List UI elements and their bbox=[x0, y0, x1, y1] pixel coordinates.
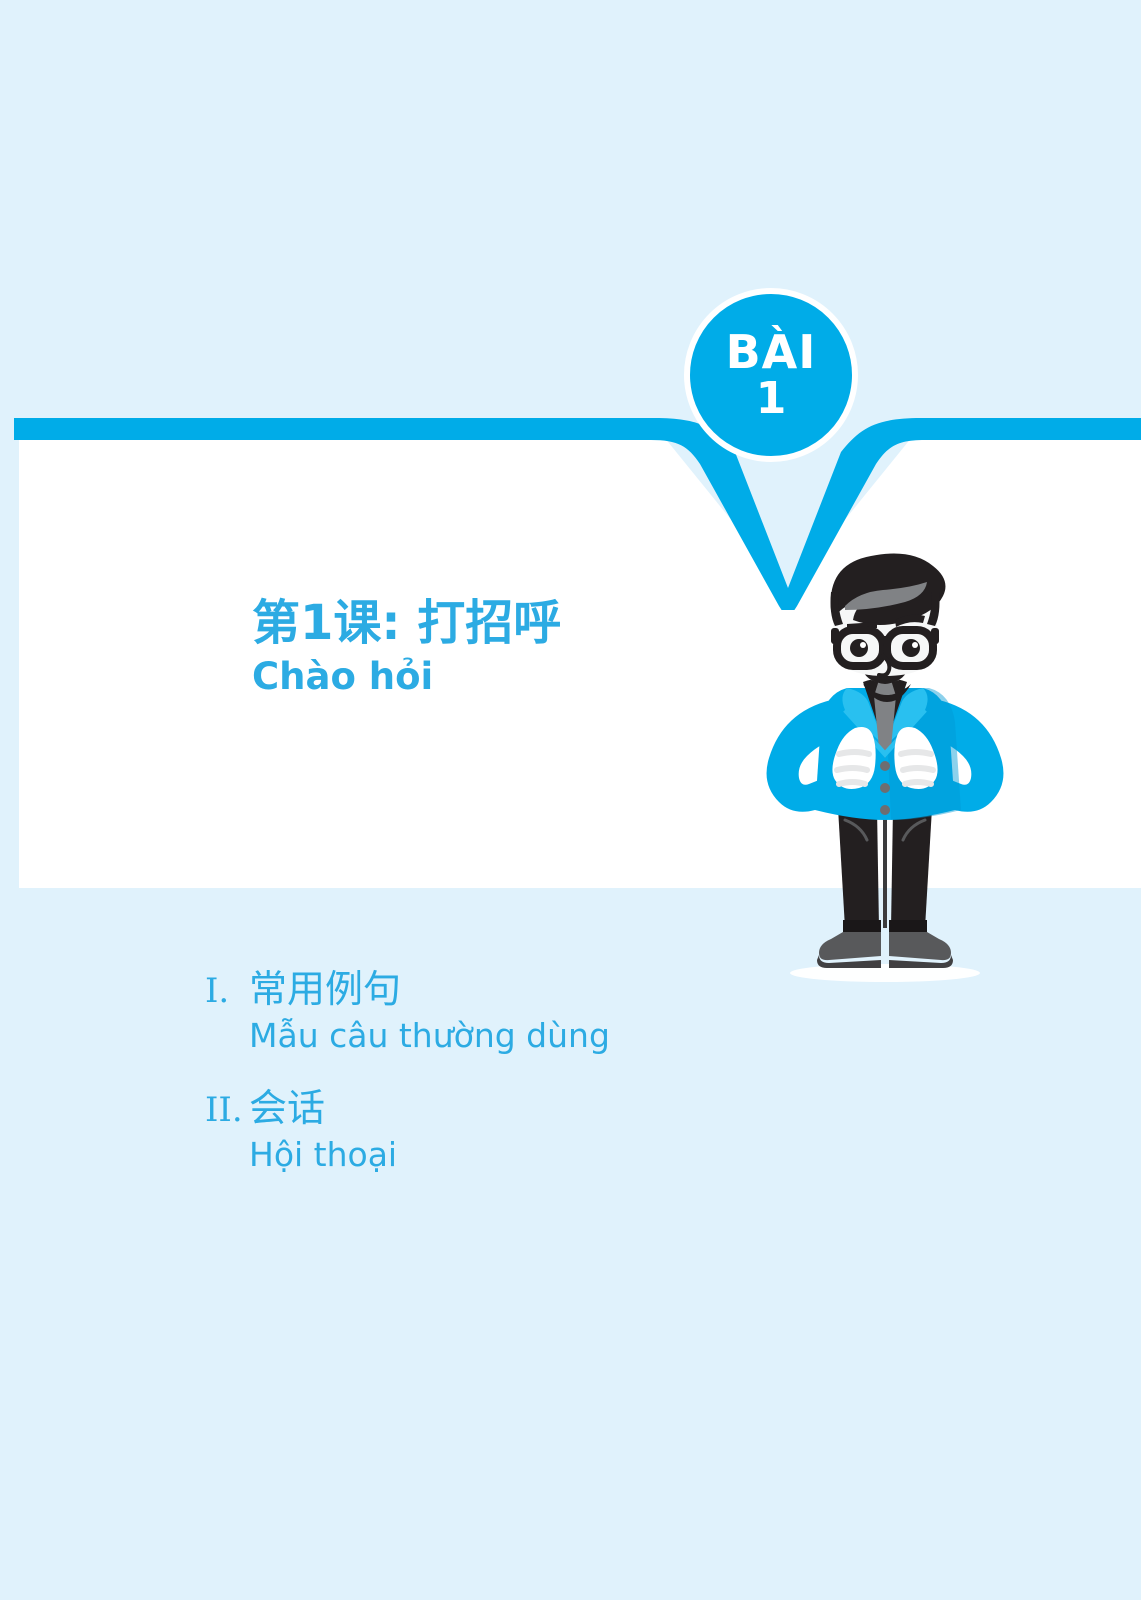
lesson-number-badge: BÀI 1 bbox=[684, 288, 858, 462]
jacket-button bbox=[880, 761, 890, 771]
right-cuff bbox=[889, 920, 927, 932]
jacket-button bbox=[880, 783, 890, 793]
right-eye bbox=[902, 639, 920, 657]
right-eye-highlight bbox=[912, 642, 918, 648]
lesson-cover-page: BÀI 1 第1课: 打招呼 Chào hỏi I. 常用例句 Mẫu câu … bbox=[0, 0, 1141, 1600]
toc-item-heading: II. 会话 bbox=[205, 1077, 610, 1132]
lesson-title-vietnamese: Chào hỏi bbox=[252, 655, 561, 699]
left-cuff bbox=[843, 920, 881, 932]
cartoon-man-illustration bbox=[735, 548, 1035, 988]
right-shoe bbox=[889, 932, 951, 960]
left-shoe bbox=[819, 932, 881, 960]
lesson-title-chinese: 第1课: 打招呼 bbox=[252, 596, 561, 651]
left-eye-highlight bbox=[860, 642, 866, 648]
pants-center-seam bbox=[883, 810, 887, 928]
toc-item-vietnamese: Hội thoại bbox=[249, 1135, 610, 1174]
toc-item-heading: I. 常用例句 bbox=[205, 958, 610, 1013]
toc-item: I. 常用例句 Mẫu câu thường dùng bbox=[205, 958, 610, 1055]
toc-item-numeral: I. bbox=[205, 971, 249, 1011]
toc-item: II. 会话 Hội thoại bbox=[205, 1077, 610, 1174]
badge-number-label: 1 bbox=[756, 377, 787, 421]
toc-item-numeral: II. bbox=[205, 1090, 249, 1130]
left-eye bbox=[850, 639, 868, 657]
character-shadow bbox=[790, 964, 980, 982]
jacket-button bbox=[880, 805, 890, 815]
toc-item-chinese: 会话 bbox=[249, 1077, 325, 1132]
lesson-title-block: 第1课: 打招呼 Chào hỏi bbox=[252, 596, 561, 700]
badge-word-label: BÀI bbox=[726, 329, 817, 375]
toc-item-vietnamese: Mẫu câu thường dùng bbox=[249, 1016, 610, 1055]
toc-item-chinese: 常用例句 bbox=[249, 958, 401, 1013]
table-of-contents: I. 常用例句 Mẫu câu thường dùng II. 会话 Hội t… bbox=[205, 958, 610, 1196]
